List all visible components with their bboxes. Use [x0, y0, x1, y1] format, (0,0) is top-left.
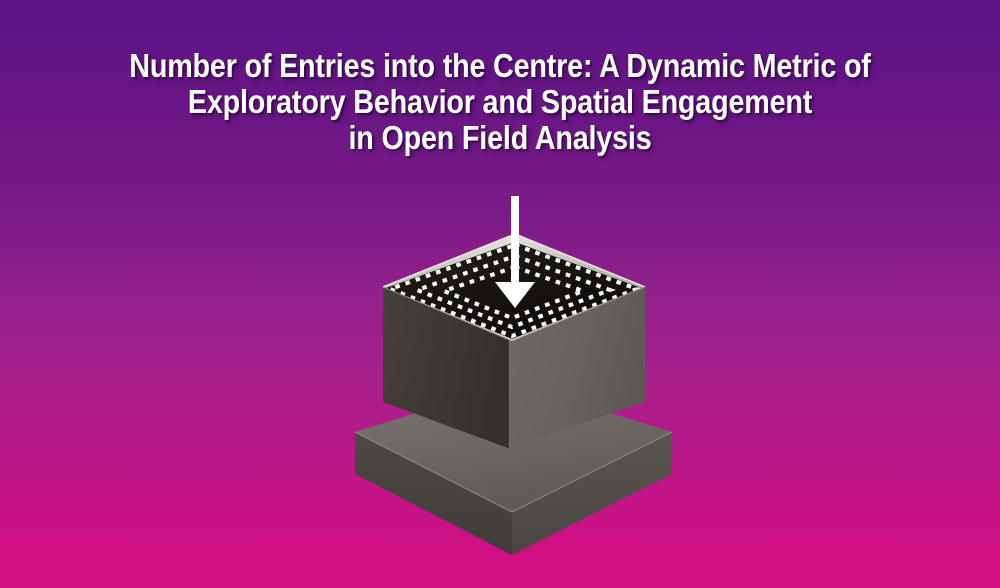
title-line-1: Number of Entries into the Centre: A Dyn…: [65, 48, 935, 84]
page-title: Number of Entries into the Centre: A Dyn…: [0, 48, 1000, 156]
title-line-3: in Open Field Analysis: [65, 120, 935, 156]
poster-canvas: Number of Entries into the Centre: A Dyn…: [0, 0, 1000, 588]
title-line-2: Exploratory Behavior and Spatial Engagem…: [65, 84, 935, 120]
